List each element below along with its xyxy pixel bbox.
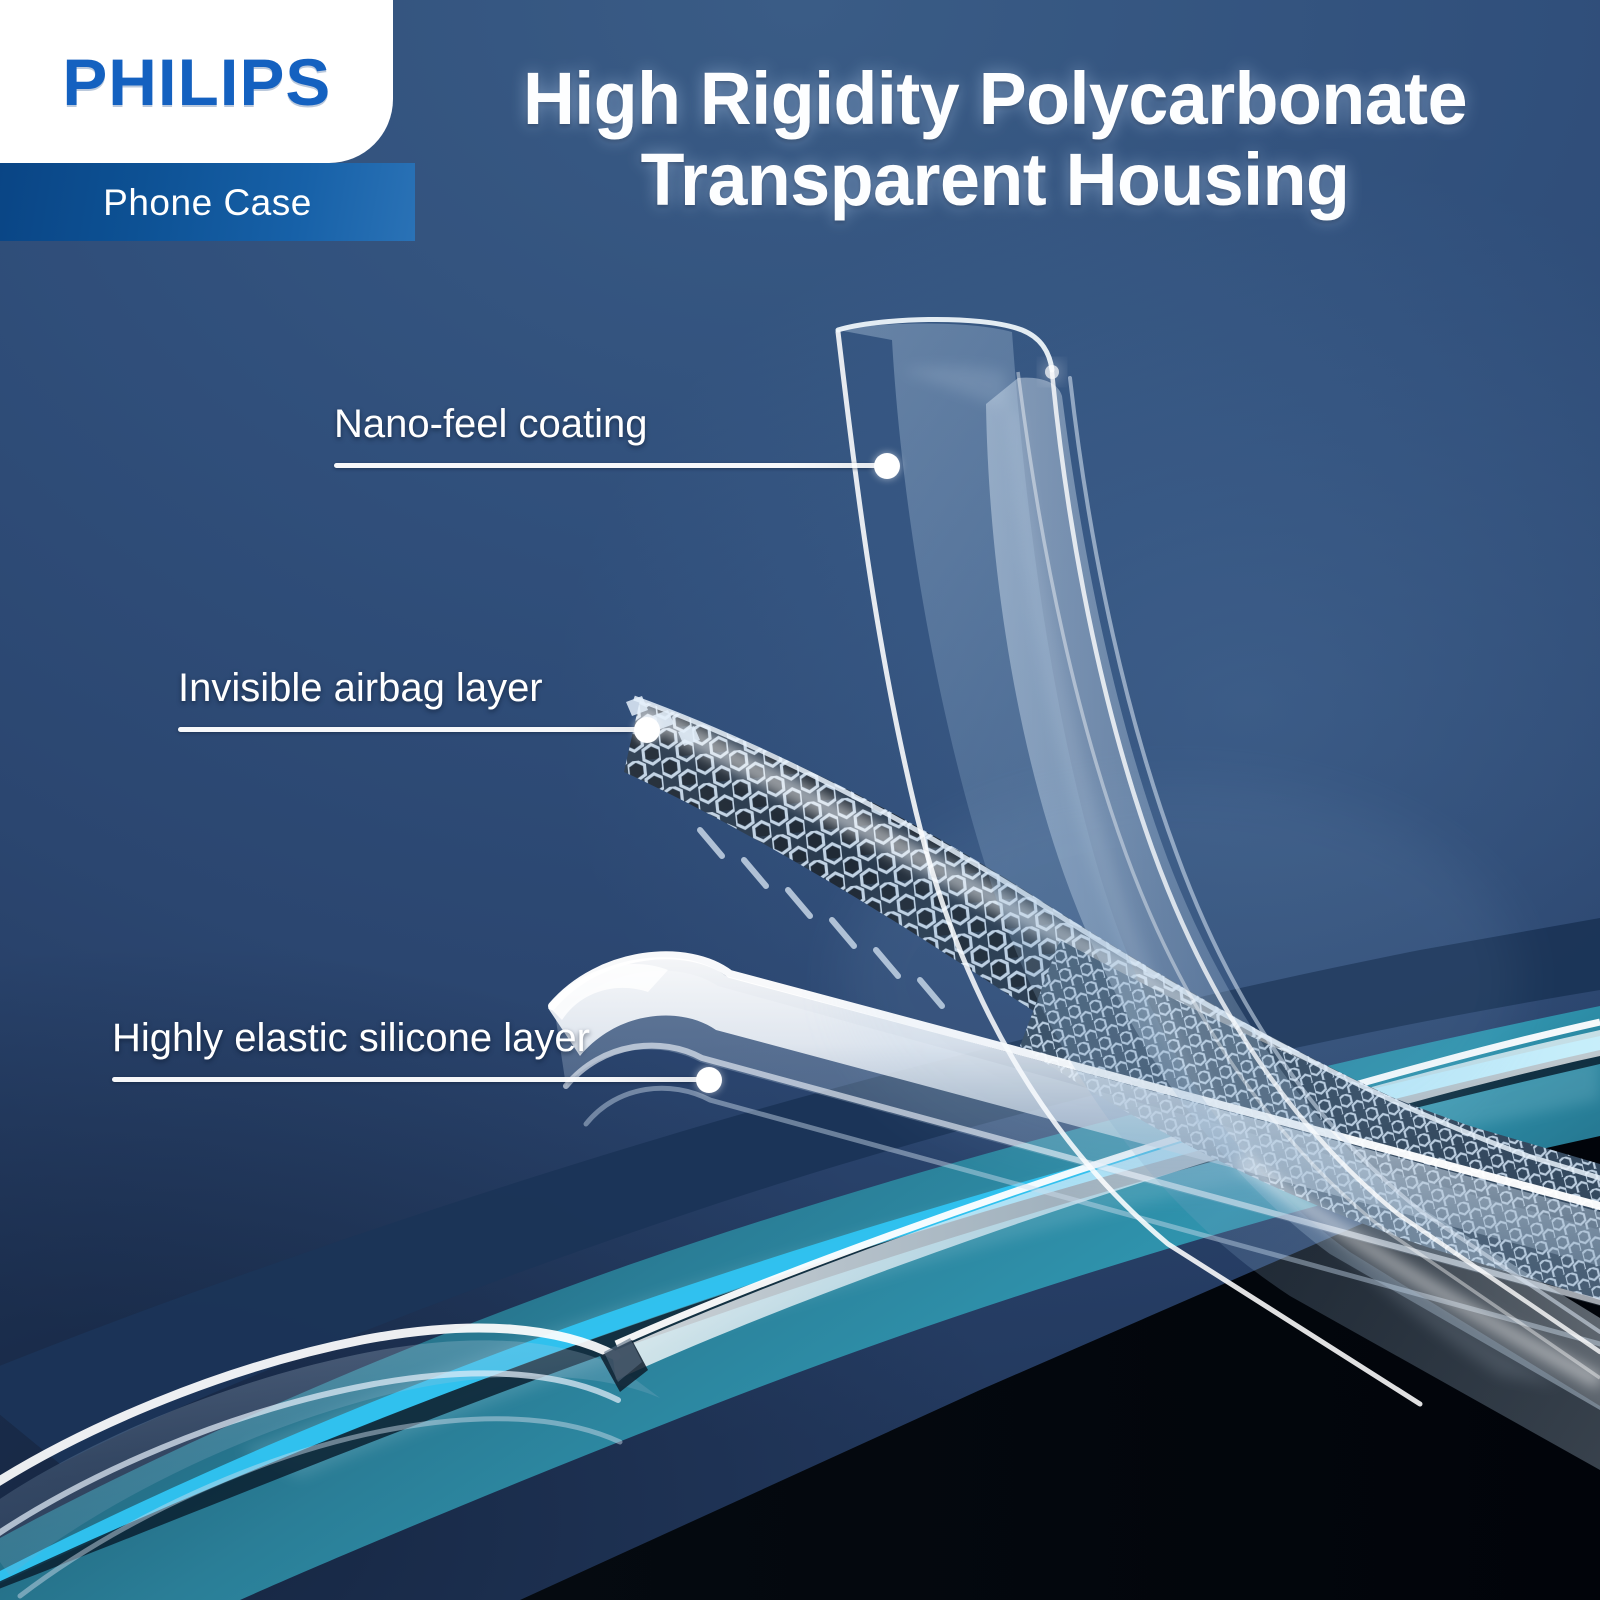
callout-label: Invisible airbag layer <box>178 668 650 708</box>
product-feature-poster: PHILIPS Phone Case High Rigidity Polycar… <box>0 0 1600 1600</box>
callout-highly-elastic-silicone-layer: Highly elastic silicone layer <box>112 1018 712 1082</box>
product-category-label: Phone Case <box>103 184 312 221</box>
callout-leader-line <box>178 727 650 732</box>
callout-dot-icon <box>696 1067 722 1093</box>
callout-leader-line <box>112 1077 712 1082</box>
title-line-2: Transparent Housing <box>418 139 1572 220</box>
philips-wordmark: PHILIPS <box>62 49 331 115</box>
callout-invisible-airbag-layer: Invisible airbag layer <box>178 668 650 732</box>
callout-label: Nano-feel coating <box>334 404 890 444</box>
callout-dot-icon <box>874 453 900 479</box>
callout-label: Highly elastic silicone layer <box>112 1018 712 1058</box>
title-line-1: High Rigidity Polycarbonate <box>418 58 1572 139</box>
page-title: High Rigidity Polycarbonate Transparent … <box>418 58 1572 221</box>
philips-logo-badge: PHILIPS <box>0 0 393 163</box>
callout-nano-feel-coating: Nano-feel coating <box>334 404 890 468</box>
callout-dot-icon <box>634 717 660 743</box>
product-category-band: Phone Case <box>0 163 415 241</box>
callout-leader-line <box>334 463 890 468</box>
